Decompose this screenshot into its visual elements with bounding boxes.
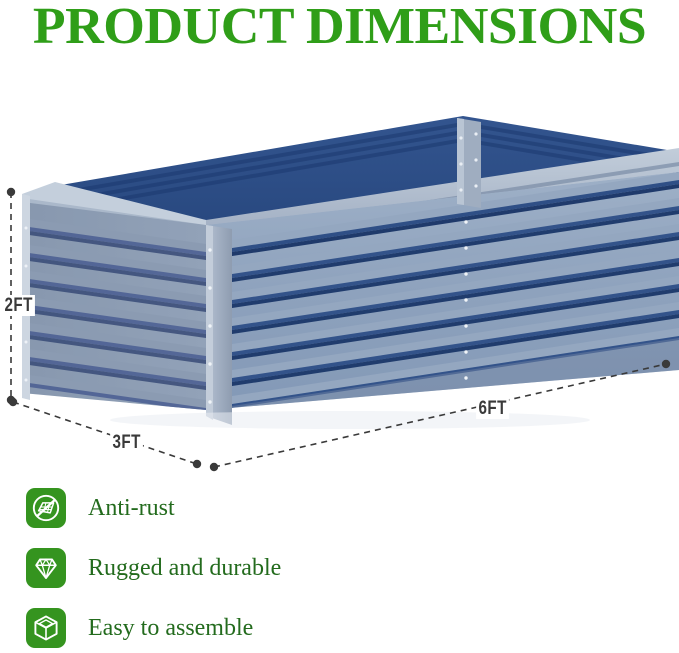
feature-list: Anti-rust Rugged and durable <box>0 478 679 653</box>
feature-item-anti-rust: Anti-rust <box>0 478 679 538</box>
dimension-line-width <box>13 402 197 464</box>
anti-rust-icon <box>26 488 66 528</box>
product-illustration <box>0 80 679 480</box>
side-panel <box>22 198 206 415</box>
feature-label: Rugged and durable <box>88 554 281 582</box>
feature-item-rugged-durable: Rugged and durable <box>0 538 679 598</box>
feature-label: Easy to assemble <box>88 614 253 642</box>
cube-icon <box>26 608 66 648</box>
diamond-icon <box>26 548 66 588</box>
feature-label: Anti-rust <box>88 494 175 522</box>
page-title: PRODUCT DIMENSIONS <box>0 0 679 56</box>
feature-item-easy-assemble: Easy to assemble <box>0 598 679 653</box>
ground-shadow <box>110 411 590 429</box>
corner-post-front <box>206 225 232 425</box>
corner-post-left <box>22 194 30 400</box>
corner-post-back-right <box>457 118 481 208</box>
product-dimensions-infographic: PRODUCT DIMENSIONS <box>0 0 679 653</box>
